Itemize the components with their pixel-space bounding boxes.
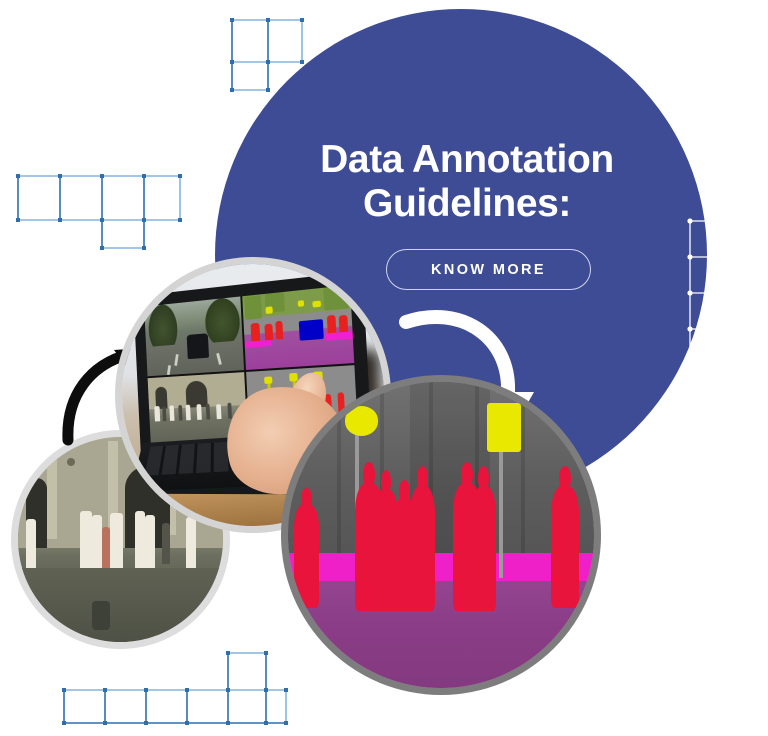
segment-building bbox=[288, 382, 594, 559]
segment-person bbox=[294, 504, 318, 608]
grid-bottom-left bbox=[60, 645, 290, 727]
panel-street-original bbox=[144, 296, 244, 376]
segment-person bbox=[410, 486, 434, 611]
segment-traffic-sign-rect bbox=[487, 403, 521, 452]
panel-street-segmented bbox=[242, 285, 354, 370]
segment-traffic-sign-round bbox=[345, 406, 379, 435]
segment-person bbox=[551, 486, 579, 608]
grid-right-ladder bbox=[684, 215, 756, 407]
segment-sidewalk bbox=[288, 553, 594, 581]
segment-person bbox=[472, 486, 496, 611]
semantic-segmentation-result bbox=[288, 382, 594, 688]
know-more-button[interactable]: KNOW MORE bbox=[386, 249, 591, 290]
grid-mid-left bbox=[14, 170, 184, 252]
poster-canvas: Data Annotation Guidelines: KNOW MORE bbox=[0, 0, 768, 736]
segment-pole-right bbox=[499, 431, 503, 578]
grid-top-left bbox=[228, 12, 306, 94]
page-title: Data Annotation Guidelines: bbox=[262, 138, 672, 227]
segment-road bbox=[288, 581, 594, 688]
